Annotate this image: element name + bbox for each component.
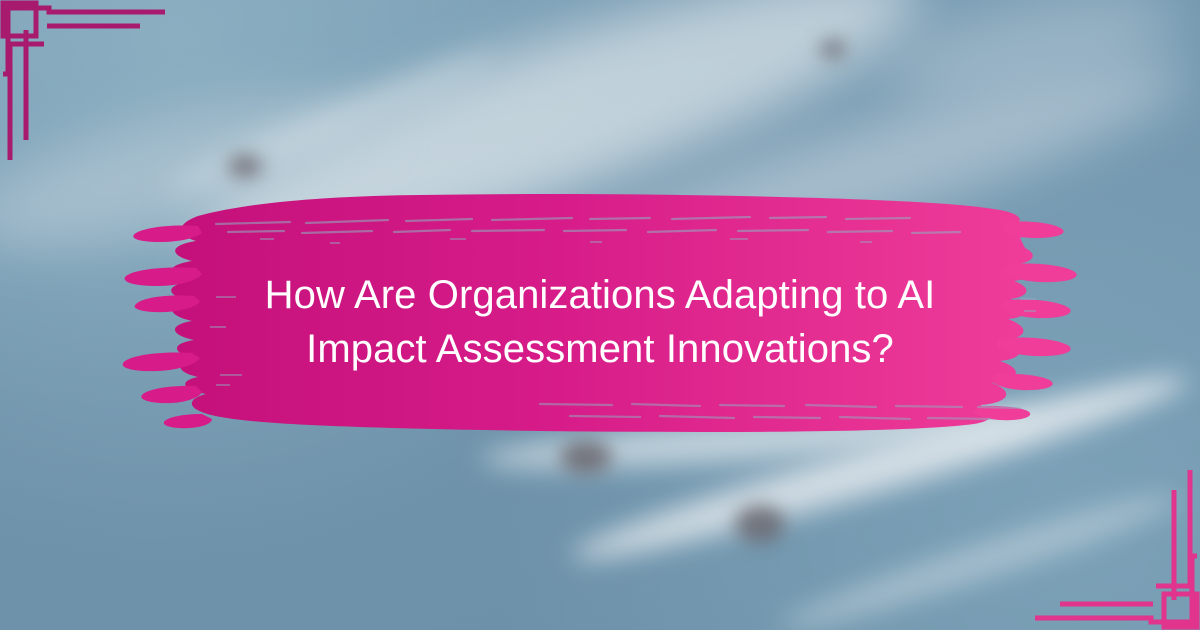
page-title: How Are Organizations Adapting to AI Imp… xyxy=(190,268,1010,377)
share-banner-canvas: How Are Organizations Adapting to AI Imp… xyxy=(0,0,1200,630)
headline-line-2: Impact Assessment Innovations? xyxy=(190,322,1010,376)
headline-line-1: How Are Organizations Adapting to AI xyxy=(190,268,1010,322)
corner-ornament-bottom-right xyxy=(1020,450,1200,630)
corner-ornament-top-left xyxy=(0,0,180,180)
